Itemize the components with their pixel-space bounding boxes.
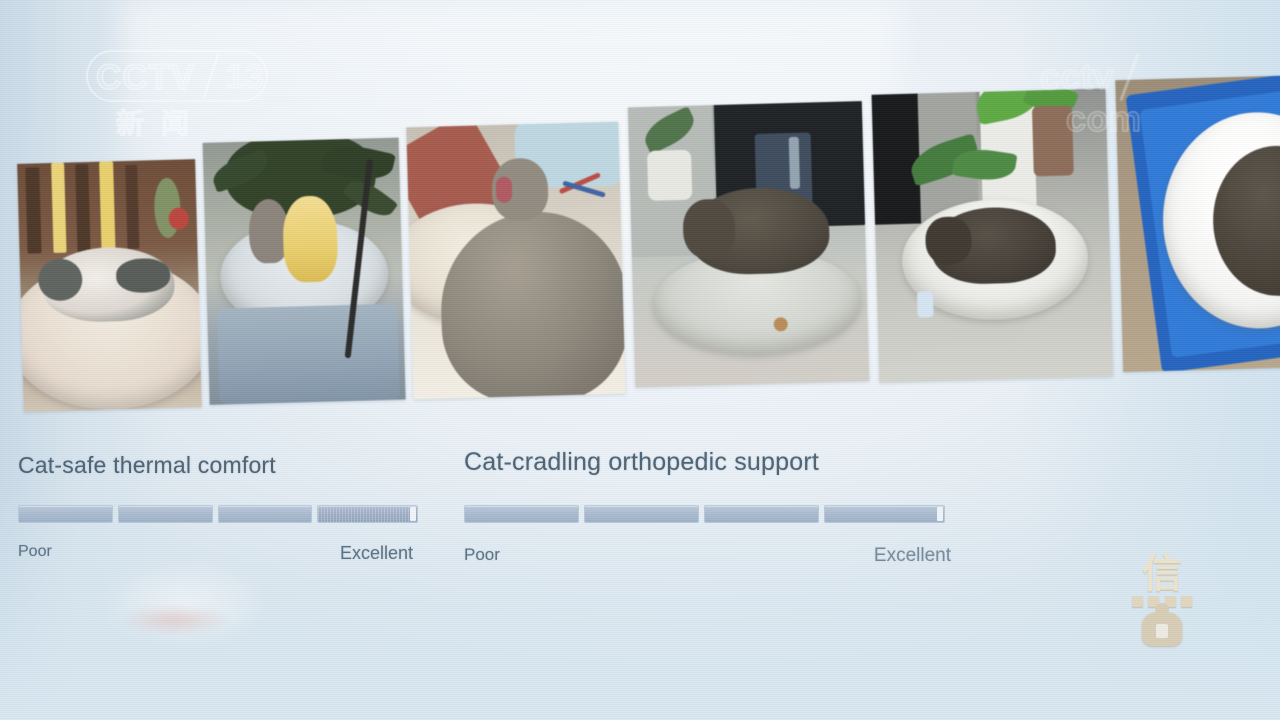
- logo-channel-number: 13: [226, 58, 264, 97]
- rating-segment-3[interactable]: [704, 505, 819, 523]
- seal-block-4: [1181, 596, 1192, 607]
- scale-label-high: Excellent: [874, 545, 951, 567]
- gallery-photo-1[interactable]: [17, 159, 202, 412]
- rating-segment-2[interactable]: [584, 505, 699, 523]
- metric-title: Cat-cradling orthopedic support: [464, 448, 964, 477]
- gallery-photo-3[interactable]: [406, 122, 625, 400]
- rating-segment-2[interactable]: [118, 505, 213, 523]
- scale-label-high: Excellent: [340, 543, 413, 564]
- seal-figure-icon: [1142, 612, 1182, 646]
- scale-label-low: Poor: [18, 543, 52, 564]
- gallery-photo-2[interactable]: [203, 138, 406, 405]
- rating-segment-1[interactable]: [464, 505, 579, 523]
- rating-segment-4[interactable]: [317, 505, 418, 523]
- rating-bar[interactable]: [464, 505, 964, 523]
- watermark-text-left: cctv: [1040, 56, 1114, 97]
- cctv-13-logo: CCTV 13 新闻: [86, 44, 276, 134]
- rating-scale: Poor Excellent: [464, 545, 951, 567]
- rating-segment-4[interactable]: [824, 505, 945, 523]
- credit-seal-watermark: 信: [1128, 552, 1194, 646]
- logo-channel-name-cn: 新闻: [116, 102, 206, 142]
- seal-block-1: [1132, 596, 1143, 607]
- gallery-photo-4[interactable]: [628, 101, 869, 387]
- metric-cat-cradling-orthopedic-support: Cat-cradling orthopedic support Poor Exc…: [464, 448, 964, 567]
- scale-label-low: Poor: [464, 545, 500, 567]
- cctv-dot-com-watermark: cctv com: [1040, 56, 1210, 108]
- rating-bar[interactable]: [18, 505, 418, 523]
- metric-title: Cat-safe thermal comfort: [18, 452, 418, 479]
- rating-segment-1[interactable]: [18, 505, 113, 523]
- logo-brand-text: CCTV: [96, 58, 195, 98]
- metric-cat-safe-thermal-comfort: Cat-safe thermal comfort Poor Excellent: [18, 452, 418, 564]
- seal-character: 信: [1134, 552, 1190, 596]
- broadcast-frame: Cat-safe thermal comfort Poor Excellent …: [0, 0, 1280, 720]
- watermark-text-right: com: [1066, 98, 1142, 139]
- watermark-slash: [1120, 53, 1140, 101]
- rating-segment-3[interactable]: [218, 505, 313, 523]
- screen-red-reflection: [120, 605, 230, 635]
